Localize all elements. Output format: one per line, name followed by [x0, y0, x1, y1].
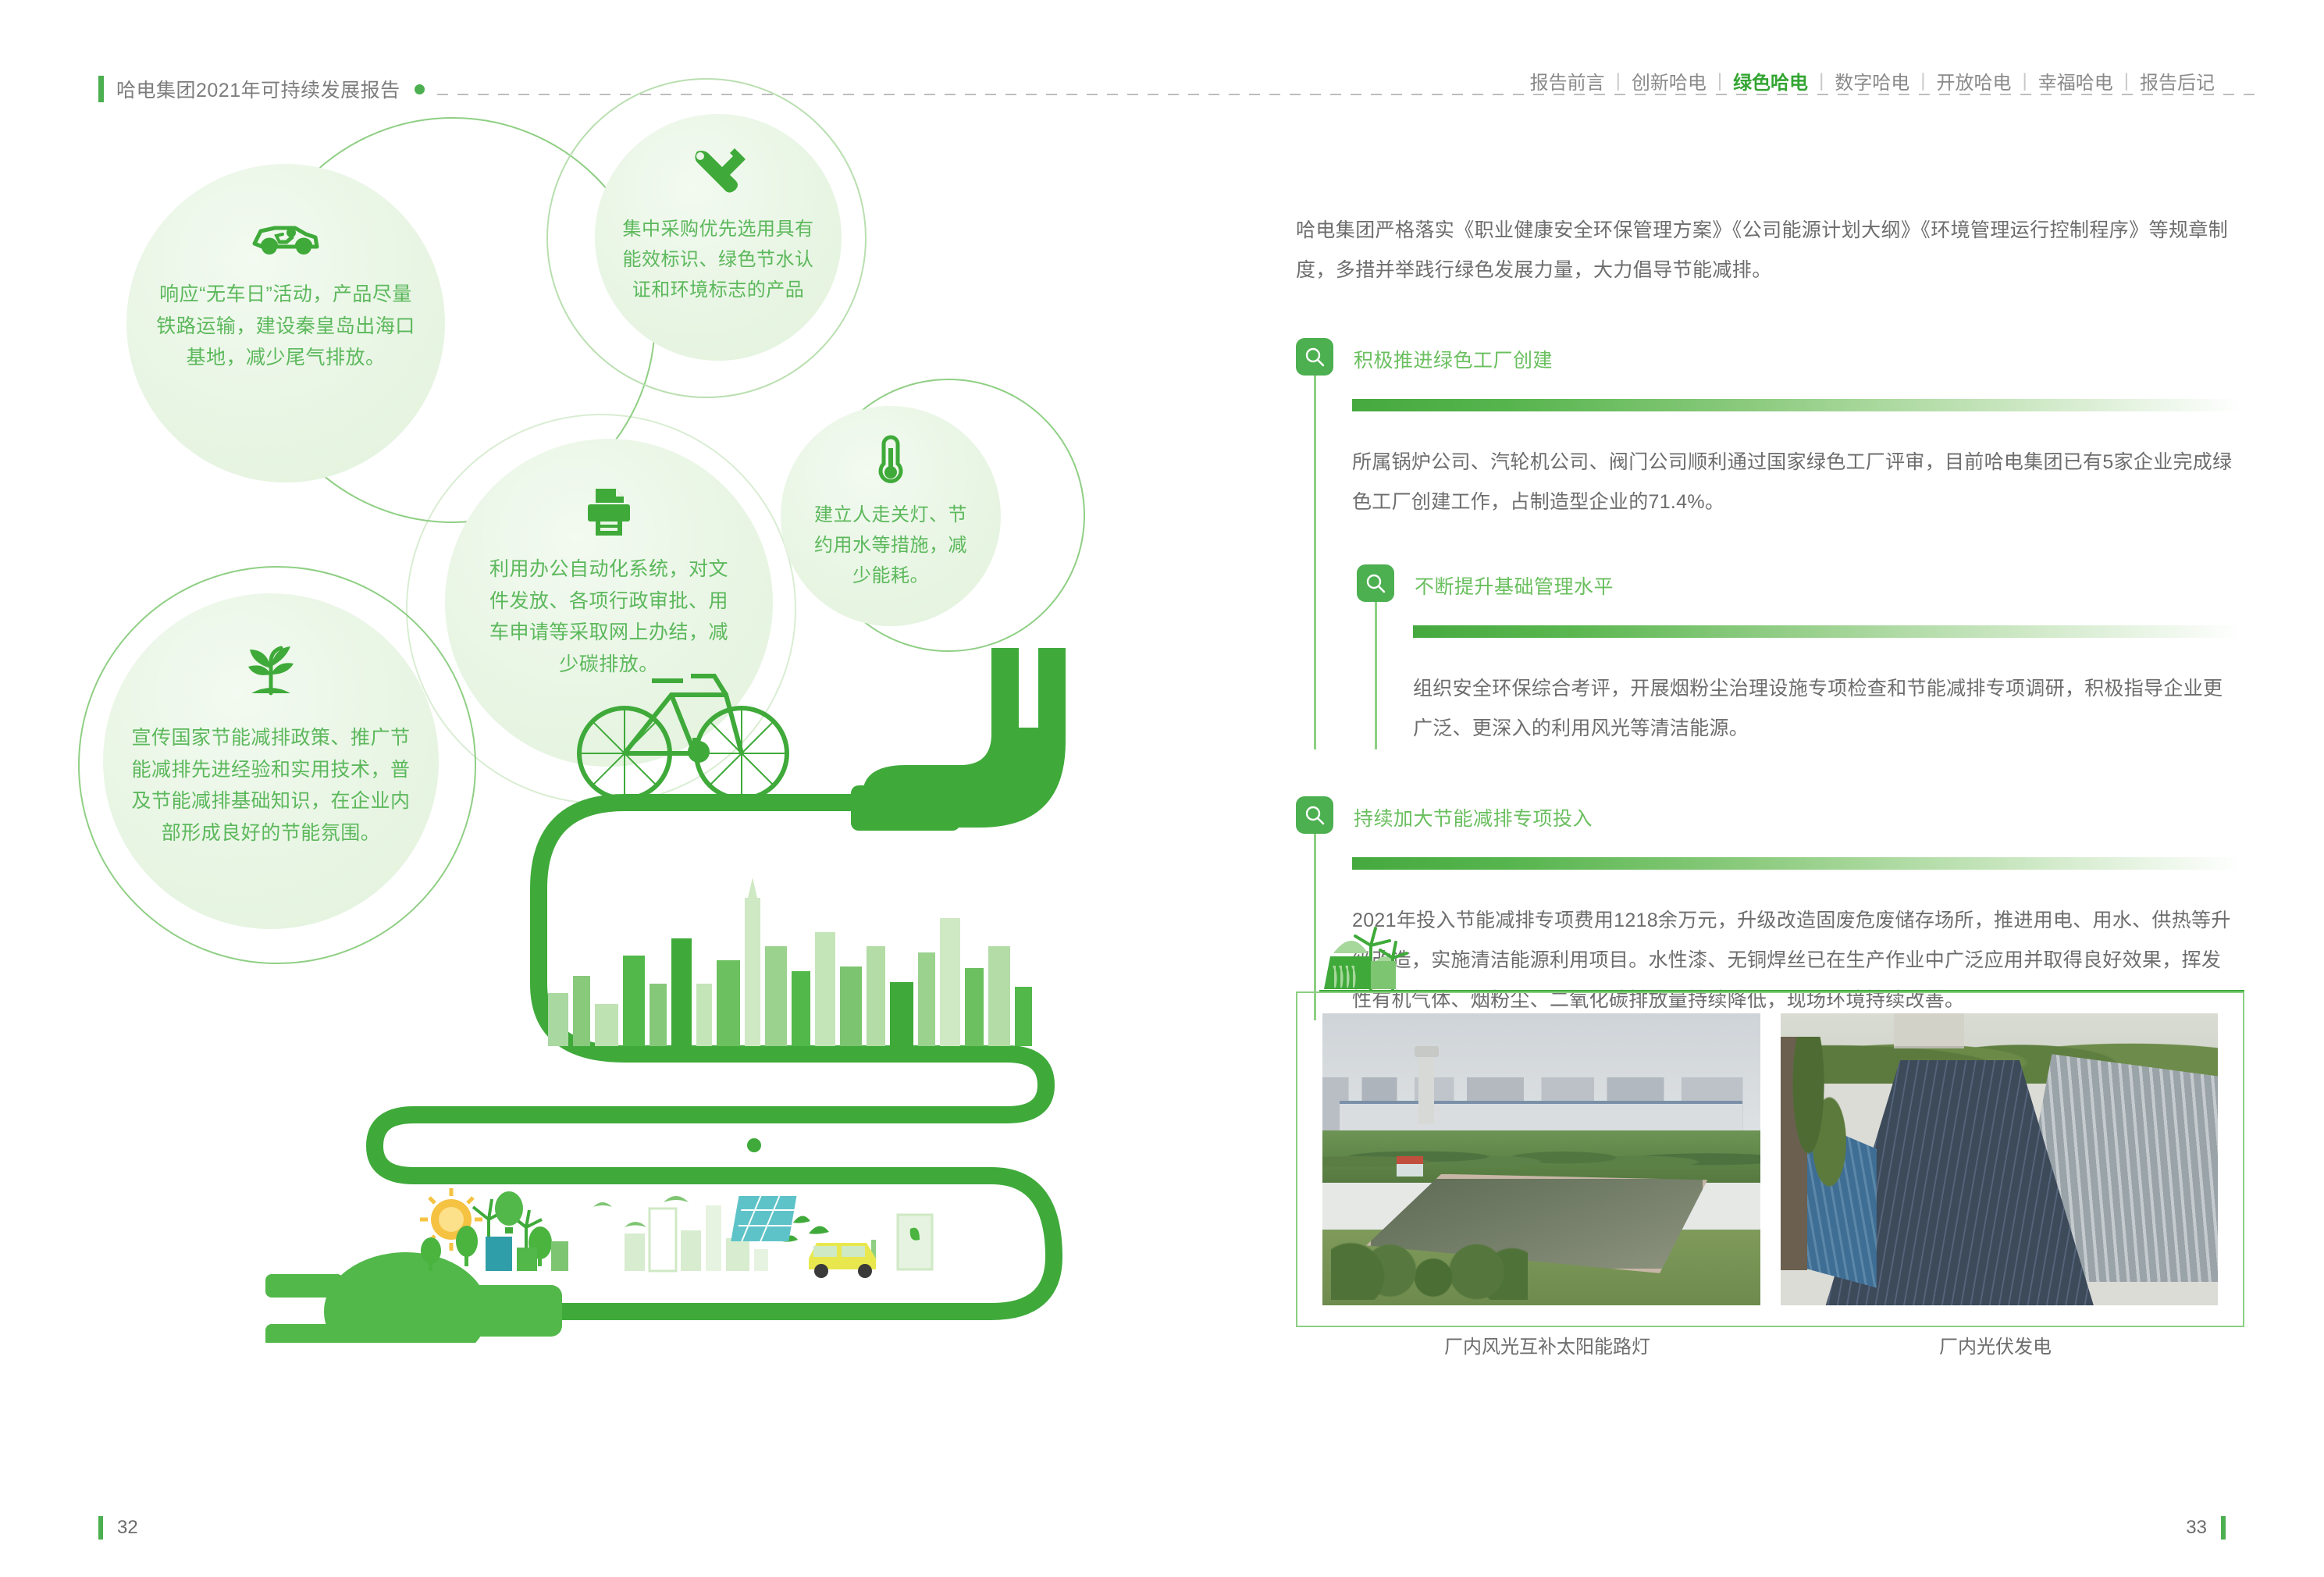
- page-number-left: 32: [117, 1517, 138, 1539]
- subsection-management-level: 不断提升基础管理水平 组织安全环保综合考评，开展烟粉尘治理设施专项检查和节能减排…: [1357, 564, 2240, 749]
- subsection-title: 不断提升基础管理水平: [1415, 571, 1614, 600]
- infographic-column: 响应“无车日”活动，产品尽量铁路运输，建设秦皇岛出海口基地，减少尾气排放。 集中…: [0, 141, 1249, 1405]
- wrench-hammer-icon: [689, 145, 747, 204]
- subsection-gradient-bar: [1413, 625, 2240, 638]
- magnifier-icon: [1357, 564, 1394, 602]
- header-dot-icon: [415, 84, 425, 94]
- electric-car-icon: [809, 1243, 876, 1278]
- report-header-left: 哈电集团2021年可持续发展报告: [98, 75, 425, 103]
- nav-item-4[interactable]: 开放哈电: [1926, 67, 2023, 94]
- info-bubble-text: 集中采购优先选用具有能效标识、绿色节水认证和环境标志的产品: [616, 215, 820, 306]
- info-bubble-text: 建立人走关灯、节约用水等措施，减少能耗。: [809, 500, 973, 592]
- photo-captions: 厂内风光互补太阳能路灯 厂内光伏发电: [1296, 1331, 2244, 1358]
- section-title: 持续加大节能减排专项投入: [1354, 803, 1593, 831]
- section-rail: [1314, 372, 1316, 749]
- section-header: 积极推进绿色工厂创建: [1296, 338, 2240, 376]
- intro-paragraph: 哈电集团严格落实《职业健康安全环保管理方案》《公司能源计划大纲》《环境管理运行控…: [1296, 211, 2240, 291]
- page-title: 哈电集团2021年可持续发展报告: [116, 75, 400, 103]
- footer-left: 32: [98, 1516, 138, 1540]
- footer-accent-bar: [2221, 1516, 2226, 1540]
- nav-item-1[interactable]: 创新哈电: [1621, 67, 1717, 94]
- thermometer-icon: [875, 434, 906, 493]
- subsection-rail: [1375, 599, 1377, 749]
- section-gradient-bar: [1352, 857, 2240, 870]
- factory-solar-streetlight-photo: [1322, 1013, 1760, 1305]
- hot-air-balloon-icon: [495, 1191, 523, 1226]
- info-bubble-text: 响应“无车日”活动，产品尽量铁路运输，建设秦皇岛出海口基地，减少尾气排放。: [153, 279, 418, 374]
- photo-caption-1: 厂内风光互补太阳能路灯: [1444, 1331, 1650, 1358]
- info-bubble-transport: 响应“无车日”活动，产品尽量铁路运输，建设秦皇岛出海口基地，减少尾气排放。: [126, 164, 445, 482]
- section-body: 所属锅炉公司、汽轮机公司、阀门公司顺利通过国家绿色工厂评审，目前哈电集团已有5家…: [1352, 443, 2240, 523]
- printer-icon: [585, 487, 633, 541]
- subsection-body: 组织安全环保综合考评，开展烟粉尘治理设施专项检查和节能减排专项调研，积极指导企业…: [1413, 669, 2240, 749]
- nav-item-5[interactable]: 幸福哈电: [2027, 67, 2124, 94]
- city-skyline-icon: [548, 877, 1032, 1046]
- nav-item-3[interactable]: 数字哈电: [1824, 67, 1920, 94]
- magnifier-icon: [1296, 796, 1333, 834]
- subsection-header: 不断提升基础管理水平: [1357, 564, 2240, 602]
- section-gradient-bar: [1352, 399, 2240, 411]
- nav-item-6[interactable]: 报告后记: [2129, 67, 2226, 94]
- section-nav[interactable]: 报告前言 | 创新哈电 | 绿色哈电 | 数字哈电 | 开放哈电 | 幸福哈电 …: [1519, 67, 2226, 94]
- photo-caption-2: 厂内光伏发电: [1939, 1331, 2052, 1358]
- report-spread: 哈电集团2021年可持续发展报告 报告前言 | 创新哈电 | 绿色哈电 | 数字…: [0, 0, 2324, 1577]
- section-title: 积极推进绿色工厂创建: [1354, 345, 1553, 373]
- power-plug-illustration: [258, 640, 1132, 1343]
- footer-accent-bar: [98, 1516, 103, 1540]
- rooftop-solar-photo: [1781, 1013, 2219, 1305]
- nav-item-2-active[interactable]: 绿色哈电: [1722, 67, 1819, 94]
- magnifier-icon: [1296, 338, 1333, 376]
- page-number-right: 33: [2186, 1517, 2207, 1539]
- info-bubble-procurement: 集中采购优先选用具有能效标识、绿色节水认证和环境标志的产品: [595, 114, 842, 361]
- eco-city-icon: [420, 1188, 932, 1278]
- header-accent-bar: [98, 76, 104, 102]
- section-header: 持续加大节能减排专项投入: [1296, 796, 2240, 834]
- nav-item-0[interactable]: 报告前言: [1519, 67, 1616, 94]
- hydro-dam-wind-turbine-icon: [1319, 917, 1507, 999]
- photo-gallery-card: [1296, 991, 2244, 1327]
- content-column: 哈电集团严格落实《职业健康安全环保管理方案》《公司能源计划大纲》《环境管理运行控…: [1296, 211, 2240, 1020]
- power-cord-icon: [258, 640, 1132, 1343]
- green-car-icon: [248, 212, 323, 263]
- bicycle-icon: [579, 676, 787, 799]
- footer-right: 33: [2186, 1516, 2226, 1540]
- section-green-factory: 积极推进绿色工厂创建 所属锅炉公司、汽轮机公司、阀门公司顺利通过国家绿色工厂评审…: [1296, 338, 2240, 749]
- info-bubble-energy-saving: 建立人走关灯、节约用水等措施，减少能耗。: [781, 406, 1001, 626]
